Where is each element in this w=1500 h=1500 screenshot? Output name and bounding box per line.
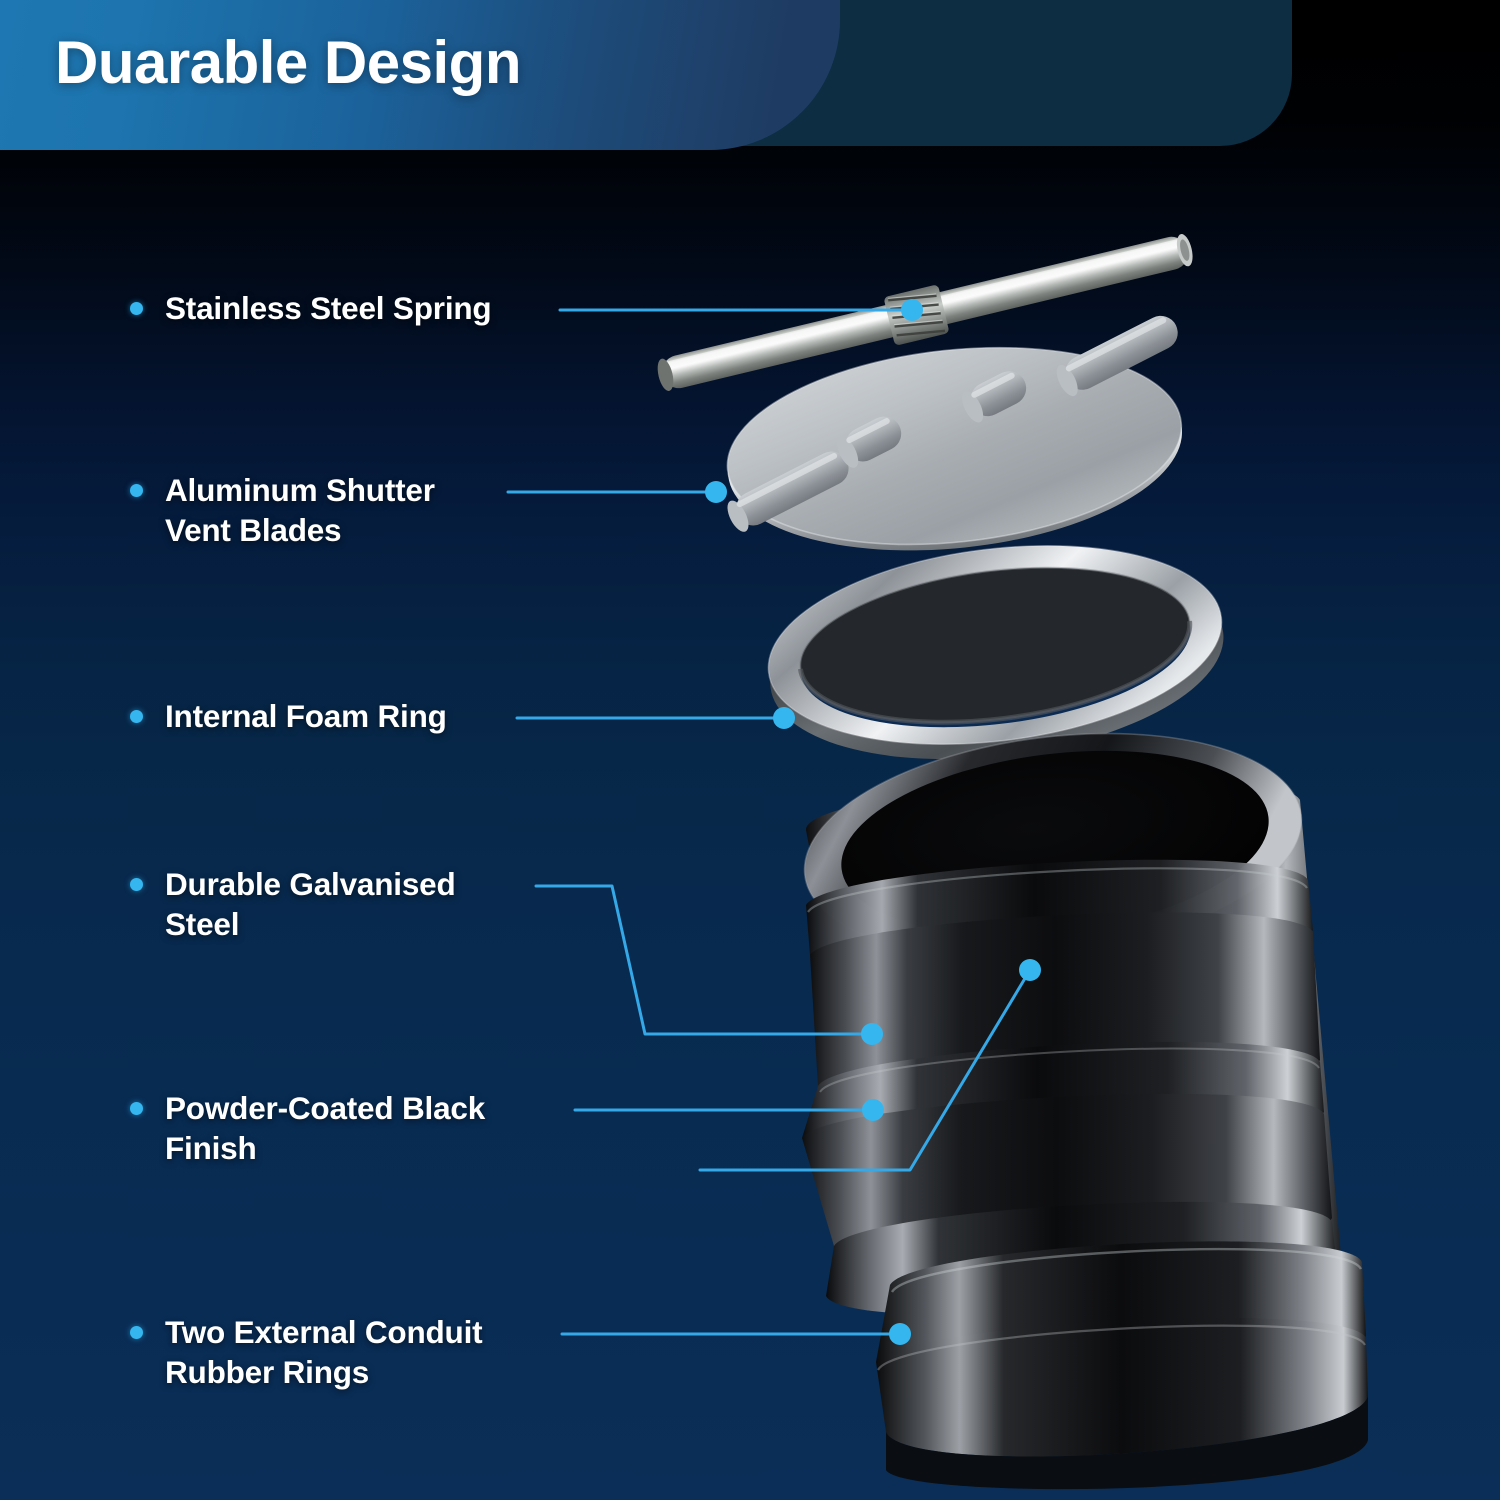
callout-aluminum-shutter-vent-blades[interactable]: Aluminum Shutter Vent Blades [130,470,435,551]
callout-durable-galvanised-steel[interactable]: Durable Galvanised Steel [130,864,456,945]
marker-dot-galvanised-steel-inner [1019,959,1041,981]
marker-dot-stainless-steel-spring [901,299,923,321]
bullet-dot-icon [130,710,143,723]
callout-label-powder-coated-black-finish: Powder-Coated Black Finish [165,1088,485,1169]
connector-line-durable-galvanised-steel [536,886,872,1034]
callout-label-two-external-conduit-rubber-rings: Two External Conduit Rubber Rings [165,1312,482,1393]
bullet-dot-icon [130,1102,143,1115]
callout-label-internal-foam-ring: Internal Foam Ring [165,696,447,736]
page-title: Duarable Design [55,28,521,97]
marker-dot-two-external-conduit-rings [889,1323,911,1345]
connector-line-galvanised-steel-inner [700,970,1030,1170]
callout-two-external-conduit-rubber-rings[interactable]: Two External Conduit Rubber Rings [130,1312,482,1393]
bullet-dot-icon [130,484,143,497]
bullet-dot-icon [130,878,143,891]
bullet-dot-icon [130,1326,143,1339]
callout-label-durable-galvanised-steel: Durable Galvanised Steel [165,864,456,945]
callout-powder-coated-black-finish[interactable]: Powder-Coated Black Finish [130,1088,485,1169]
bullet-dot-icon [130,302,143,315]
callout-internal-foam-ring[interactable]: Internal Foam Ring [130,696,447,736]
callout-connector-lines [0,0,1500,1500]
marker-dot-aluminum-shutter [705,481,727,503]
marker-dot-durable-galvanised-steel [861,1023,883,1045]
callout-stainless-steel-spring[interactable]: Stainless Steel Spring [130,288,491,328]
marker-dot-powder-coated-black-finish [862,1099,884,1121]
callout-label-stainless-steel-spring: Stainless Steel Spring [165,288,491,328]
infographic-canvas: Duarable Design [0,0,1500,1500]
marker-dot-internal-foam-ring [773,707,795,729]
callout-label-aluminum-shutter-vent-blades: Aluminum Shutter Vent Blades [165,470,435,551]
